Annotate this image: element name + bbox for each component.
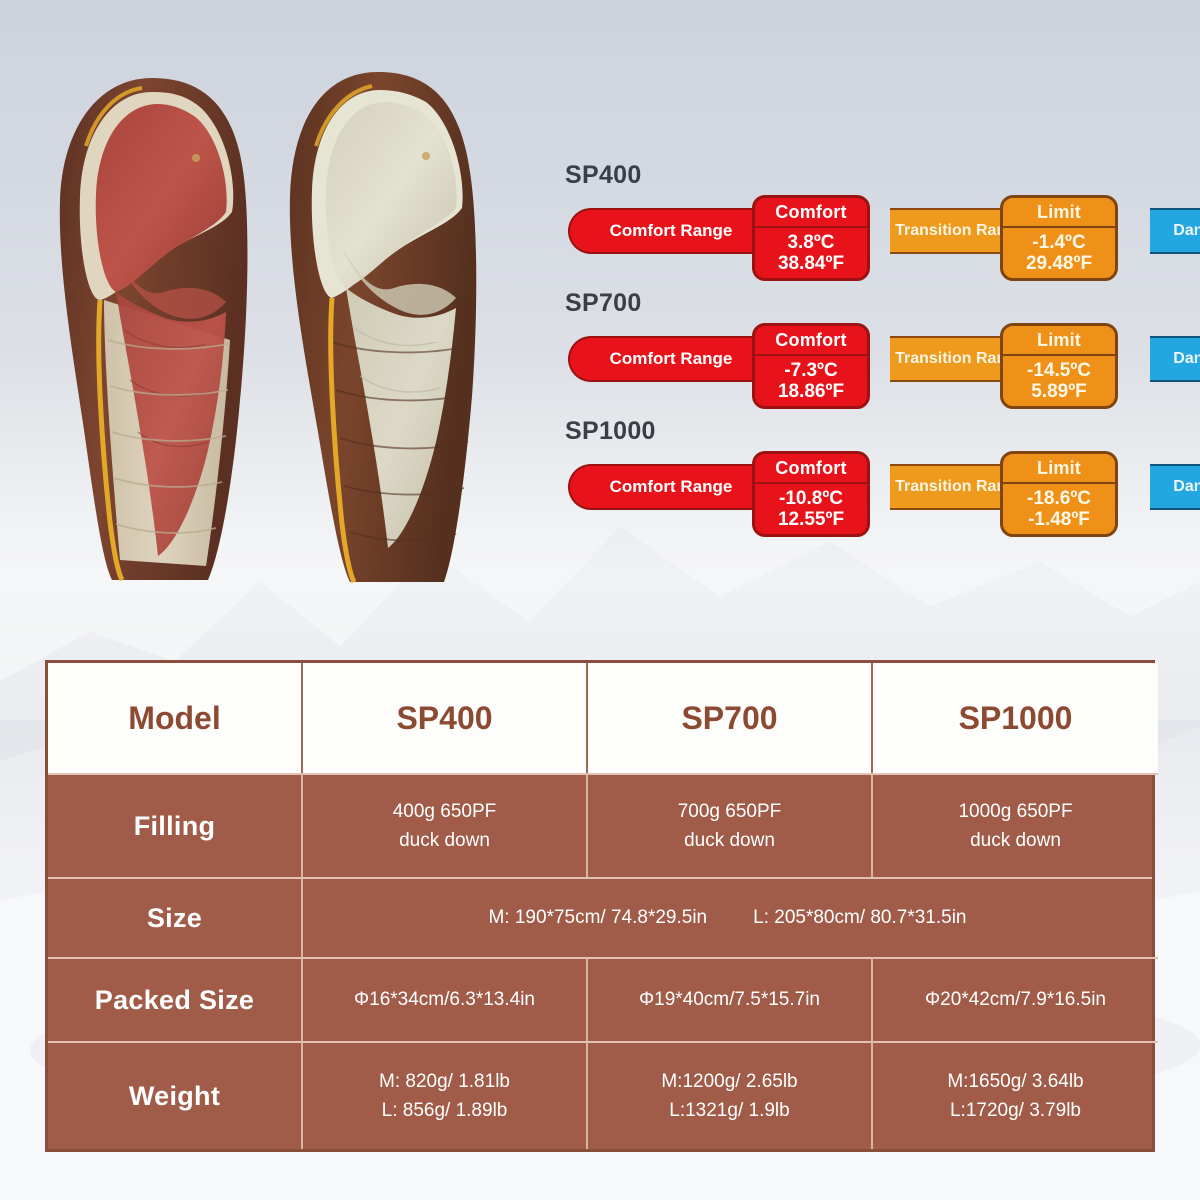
product-images <box>0 0 560 620</box>
filling-cell-sp400: 400g 650PF duck down <box>303 773 588 877</box>
comfort-value-box-sp1000: Comfort -10.8ºC 12.55ºF <box>752 451 870 537</box>
temp-model-label-sp1000: SP1000 <box>565 417 656 446</box>
limit-title-sp1000: Limit <box>1003 454 1115 484</box>
limit-celsius-sp1000: -18.6ºC <box>1027 488 1091 509</box>
filling-sp400-line1: 400g 650PF <box>393 797 497 826</box>
size-cell-merged: M: 190*75cm/ 74.8*29.5in L: 205*80cm/ 80… <box>303 877 1152 957</box>
header-cell-model: Model <box>48 663 303 773</box>
limit-value-box-sp700: Limit -14.5ºC 5.89ºF <box>1000 323 1118 409</box>
comfort-values-sp400: 3.8ºC 38.84ºF <box>755 228 867 278</box>
temp-row-sp1000: SP1000 Comfort Range Transition Range Da… <box>560 411 1160 539</box>
limit-celsius-sp400: -1.4ºC <box>1032 232 1085 253</box>
temp-row-sp400: SP400 Comfort Range Transition Range Dan… <box>560 155 1160 283</box>
comfort-values-sp700: -7.3ºC 18.86ºF <box>755 356 867 406</box>
size-medium: M: 190*75cm/ 74.8*29.5in <box>488 907 707 929</box>
filling-sp700-line2: duck down <box>684 826 775 855</box>
row-label-filling: Filling <box>48 773 303 877</box>
sleeping-bag-right <box>290 72 476 582</box>
weight-sp700-line1: M:1200g/ 2.65lb <box>661 1067 797 1096</box>
limit-title-sp400: Limit <box>1003 198 1115 228</box>
table-row-weight: Weight M: 820g/ 1.81lb L: 856g/ 1.89lb M… <box>48 1041 1152 1149</box>
weight-cell-sp1000: M:1650g/ 3.64lb L:1720g/ 3.79lb <box>873 1041 1158 1149</box>
comfort-range-bar-sp700: Comfort Range <box>568 336 778 382</box>
temp-bar-area-sp400: Comfort Range Transition Range Danger Ra… <box>560 195 1140 257</box>
temp-model-label-sp700: SP700 <box>565 289 642 318</box>
temperature-rating-diagram: SP400 Comfort Range Transition Range Dan… <box>560 155 1160 539</box>
packed-cell-sp400: Φ16*34cm/6.3*13.4in <box>303 957 588 1041</box>
comfort-fahrenheit-sp1000: 12.55ºF <box>778 509 844 530</box>
row-label-packed-size: Packed Size <box>48 957 303 1041</box>
table-row-filling: Filling 400g 650PF duck down 700g 650PF … <box>48 773 1152 877</box>
packed-cell-sp700: Φ19*40cm/7.5*15.7in <box>588 957 873 1041</box>
limit-fahrenheit-sp1000: -1.48ºF <box>1028 509 1090 530</box>
danger-range-bar-sp400: Danger Range <box>1150 208 1200 254</box>
sleeping-bag-left <box>60 78 248 580</box>
weight-cell-sp400: M: 820g/ 1.81lb L: 856g/ 1.89lb <box>303 1041 588 1149</box>
limit-values-sp400: -1.4ºC 29.48ºF <box>1003 228 1115 278</box>
filling-sp1000-line1: 1000g 650PF <box>958 797 1072 826</box>
limit-fahrenheit-sp700: 5.89ºF <box>1031 381 1087 402</box>
comfort-range-bar-sp1000: Comfort Range <box>568 464 778 510</box>
header-cell-sp400: SP400 <box>303 663 588 773</box>
limit-value-box-sp1000: Limit -18.6ºC -1.48ºF <box>1000 451 1118 537</box>
comfort-value-box-sp700: Comfort -7.3ºC 18.86ºF <box>752 323 870 409</box>
table-row-size: Size M: 190*75cm/ 74.8*29.5in L: 205*80c… <box>48 877 1152 957</box>
comfort-celsius-sp400: 3.8ºC <box>787 232 834 253</box>
comfort-title-sp400: Comfort <box>755 198 867 228</box>
header-cell-sp1000: SP1000 <box>873 663 1158 773</box>
comfort-values-sp1000: -10.8ºC 12.55ºF <box>755 484 867 534</box>
danger-range-bar-sp1000: Danger Range <box>1150 464 1200 510</box>
danger-range-bar-sp700: Danger Range <box>1150 336 1200 382</box>
limit-title-sp700: Limit <box>1003 326 1115 356</box>
limit-values-sp700: -14.5ºC 5.89ºF <box>1003 356 1115 406</box>
filling-sp400-line2: duck down <box>399 826 490 855</box>
size-values: M: 190*75cm/ 74.8*29.5in L: 205*80cm/ 80… <box>488 907 966 929</box>
limit-values-sp1000: -18.6ºC -1.48ºF <box>1003 484 1115 534</box>
packed-cell-sp1000: Φ20*42cm/7.9*16.5in <box>873 957 1158 1041</box>
size-large: L: 205*80cm/ 80.7*31.5in <box>753 907 966 929</box>
temp-row-sp700: SP700 Comfort Range Transition Range Dan… <box>560 283 1160 411</box>
weight-sp1000-line2: L:1720g/ 3.79lb <box>950 1096 1081 1125</box>
comfort-value-box-sp400: Comfort 3.8ºC 38.84ºF <box>752 195 870 281</box>
weight-sp400-line1: M: 820g/ 1.81lb <box>379 1067 510 1096</box>
limit-celsius-sp700: -14.5ºC <box>1027 360 1091 381</box>
temp-bar-area-sp1000: Comfort Range Transition Range Danger Ra… <box>560 451 1140 513</box>
weight-cell-sp700: M:1200g/ 2.65lb L:1321g/ 1.9lb <box>588 1041 873 1149</box>
comfort-fahrenheit-sp700: 18.86ºF <box>778 381 844 402</box>
specification-table: Model SP400 SP700 SP1000 Filling 400g 65… <box>45 660 1155 1152</box>
table-row-packed-size: Packed Size Φ16*34cm/6.3*13.4in Φ19*40cm… <box>48 957 1152 1041</box>
row-label-weight: Weight <box>48 1041 303 1149</box>
comfort-title-sp700: Comfort <box>755 326 867 356</box>
row-label-size: Size <box>48 877 303 957</box>
weight-sp1000-line1: M:1650g/ 3.64lb <box>947 1067 1083 1096</box>
filling-cell-sp1000: 1000g 650PF duck down <box>873 773 1158 877</box>
comfort-title-sp1000: Comfort <box>755 454 867 484</box>
filling-cell-sp700: 700g 650PF duck down <box>588 773 873 877</box>
temp-bar-area-sp700: Comfort Range Transition Range Danger Ra… <box>560 323 1140 385</box>
temp-model-label-sp400: SP400 <box>565 161 642 190</box>
header-cell-sp700: SP700 <box>588 663 873 773</box>
limit-value-box-sp400: Limit -1.4ºC 29.48ºF <box>1000 195 1118 281</box>
comfort-fahrenheit-sp400: 38.84ºF <box>778 253 844 274</box>
comfort-range-bar-sp400: Comfort Range <box>568 208 778 254</box>
limit-fahrenheit-sp400: 29.48ºF <box>1026 253 1092 274</box>
weight-sp400-line2: L: 856g/ 1.89lb <box>382 1096 508 1125</box>
comfort-celsius-sp1000: -10.8ºC <box>779 488 843 509</box>
table-header-row: Model SP400 SP700 SP1000 <box>48 663 1152 773</box>
filling-sp700-line1: 700g 650PF <box>678 797 782 826</box>
comfort-celsius-sp700: -7.3ºC <box>784 360 837 381</box>
weight-sp700-line2: L:1321g/ 1.9lb <box>669 1096 789 1125</box>
filling-sp1000-line2: duck down <box>970 826 1061 855</box>
